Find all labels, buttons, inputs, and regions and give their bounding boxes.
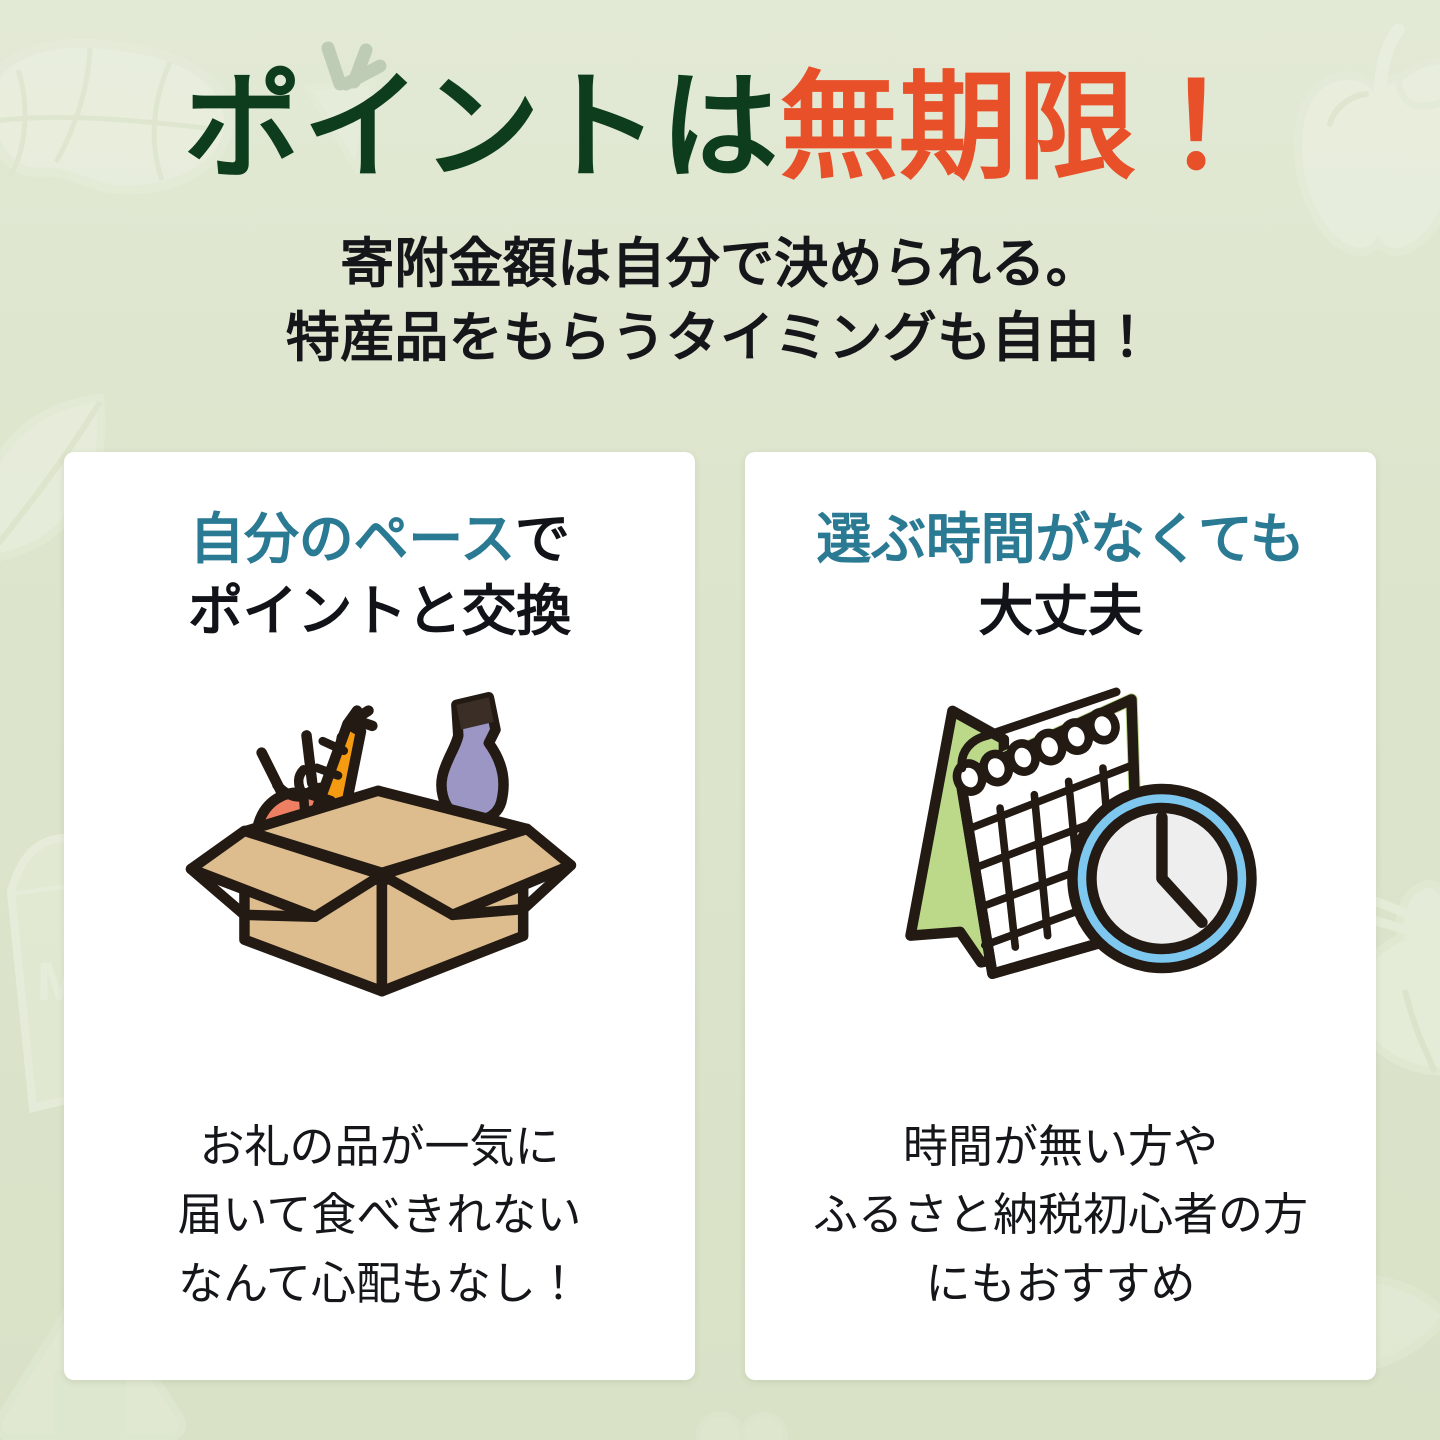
card-body-line-1: お礼の品が一気に — [178, 1113, 582, 1181]
subtitle-block: 寄附金額は自分で決められる。 特産品をもらうタイミングも自由！ — [0, 228, 1440, 375]
card-title-line-2: ポイントと交換 — [188, 576, 571, 648]
card-title-line-2: 大丈夫 — [816, 576, 1304, 648]
headline-orange-part: 無期限！ — [780, 62, 1257, 194]
feature-card-no-time: 選ぶ時間がなくても 大丈夫 — [745, 452, 1376, 1380]
feature-card-own-pace: 自分のペースで ポイントと交換 — [64, 452, 695, 1380]
card-title-tail: で — [515, 508, 570, 570]
card-body-line-2: ふるさと納税初心者の方 — [813, 1181, 1308, 1249]
poster-root: MILK — [0, 0, 1440, 1440]
grapes-watermark — [660, 1390, 840, 1440]
card-body-text: お礼の品が一気に 届いて食べきれない なんて心配もなし！ — [178, 1113, 582, 1340]
headline-green-part: ポイントは — [184, 62, 780, 194]
card-title: 自分のペースで ポイントと交換 — [188, 504, 571, 647]
card-body-line-3: にもおすすめ — [813, 1250, 1308, 1318]
open-box-with-produce-icon — [88, 673, 671, 1003]
feature-card-list: 自分のペースで ポイントと交換 — [64, 452, 1376, 1380]
subtitle-line-1: 寄附金額は自分で決められる。 — [0, 228, 1440, 301]
page-title: ポイントは無期限！ — [0, 62, 1440, 194]
card-body-line-3: なんて心配もなし！ — [178, 1250, 582, 1318]
desk-calendar-with-clock-icon — [769, 673, 1352, 1003]
card-body-text: 時間が無い方や ふるさと納税初心者の方 にもおすすめ — [813, 1113, 1308, 1340]
poster-header: ポイントは無期限！ 寄附金額は自分で決められる。 特産品をもらうタイミングも自由… — [0, 0, 1440, 375]
card-body-line-2: 届いて食べきれない — [178, 1181, 582, 1249]
subtitle-line-2: 特産品をもらうタイミングも自由！ — [0, 302, 1440, 375]
card-title-highlight: 選ぶ時間がなくても — [816, 508, 1304, 570]
card-title-highlight: 自分のペース — [189, 508, 515, 570]
card-body-line-1: 時間が無い方や — [813, 1113, 1308, 1181]
card-title: 選ぶ時間がなくても 大丈夫 — [816, 504, 1304, 647]
